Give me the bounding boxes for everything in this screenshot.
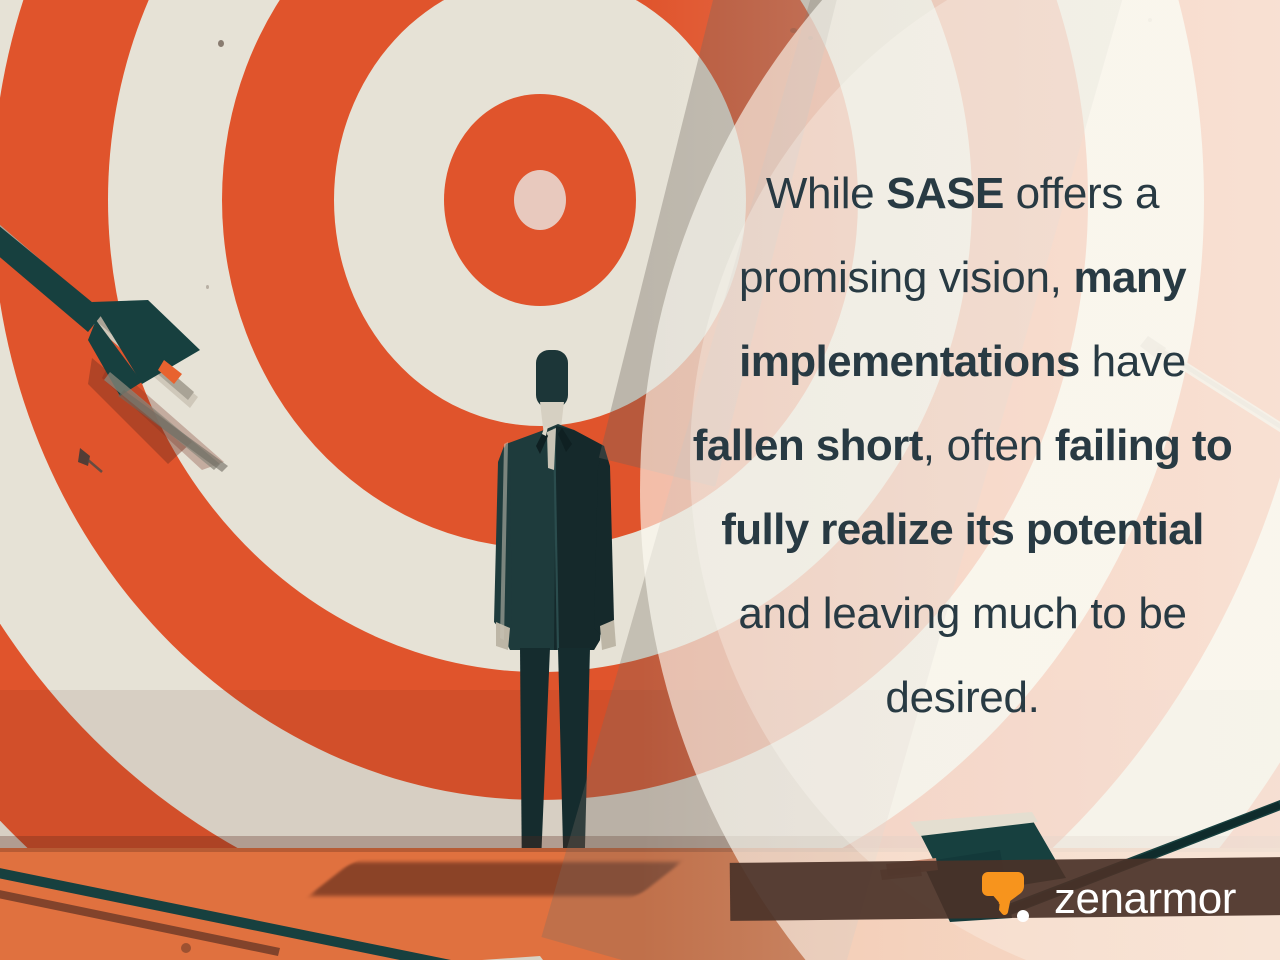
quote-emphasis-sase: SASE (886, 169, 1003, 218)
arrow-lower-left (0, 852, 680, 960)
wall-speck (808, 36, 813, 40)
quote-emphasis-fallen-short: fallen short (693, 421, 923, 470)
quote-plain-5: and leaving much to be desired. (738, 589, 1186, 722)
quote-line-1-plain: While (766, 169, 886, 218)
wall-speck (218, 40, 224, 47)
zenarmor-flag-icon (978, 872, 1034, 926)
brand-logo[interactable]: zenarmor (978, 872, 1236, 926)
wall-speck (790, 28, 797, 33)
brand-wordmark: zenarmor (1054, 877, 1236, 921)
wall-speck (1148, 18, 1152, 22)
quote-plain-4: , often (923, 421, 1055, 470)
quote-text: While SASE offers a promising vision, ma… (690, 152, 1235, 740)
standing-figure (448, 350, 688, 910)
quote-plain-3: have (1080, 337, 1186, 386)
arrow-upper-left (0, 212, 292, 472)
quote-card: While SASE offers a promising vision, ma… (0, 0, 1280, 960)
